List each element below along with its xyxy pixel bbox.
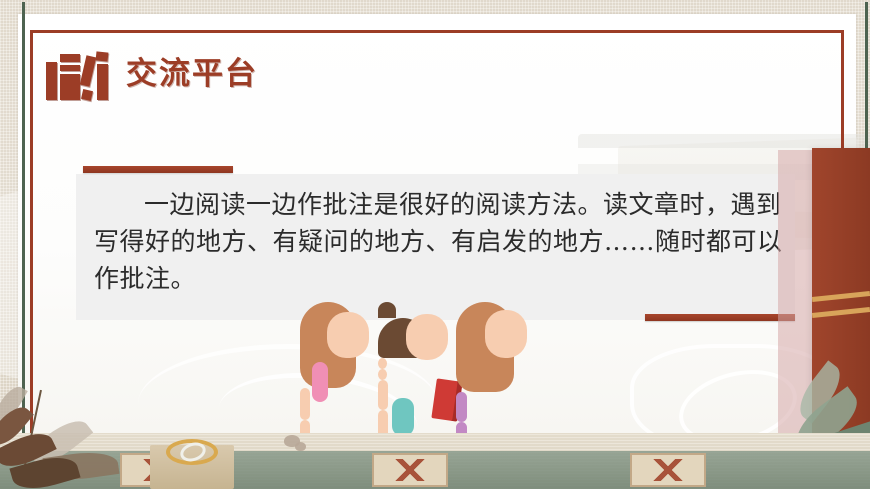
book-stack-icon [46,48,108,100]
student-girl-purple-dress [456,302,552,452]
page-title: 交流平台 [126,59,258,90]
body-paragraph: 一边阅读一边作批注是很好的阅读方法。读文章时，遇到写得好的地方、有疑问的地方、有… [94,186,784,297]
slide-canvas: 交流平台 一边阅读一边作批注是很好的阅读方法。读文章时，遇到写得好的地方、有疑问… [0,0,870,489]
accent-bar-bottom-right [645,314,795,321]
slide-header: 交流平台 [46,44,258,104]
patterned-envelope [630,453,706,487]
accent-bar-top-left [83,166,233,173]
pebble-decoration [295,442,306,451]
patterned-envelope [372,453,448,487]
gift-ribbon-decoration [150,445,234,489]
bottom-decorative-strip [0,433,870,489]
three-students-illustration [300,292,540,452]
